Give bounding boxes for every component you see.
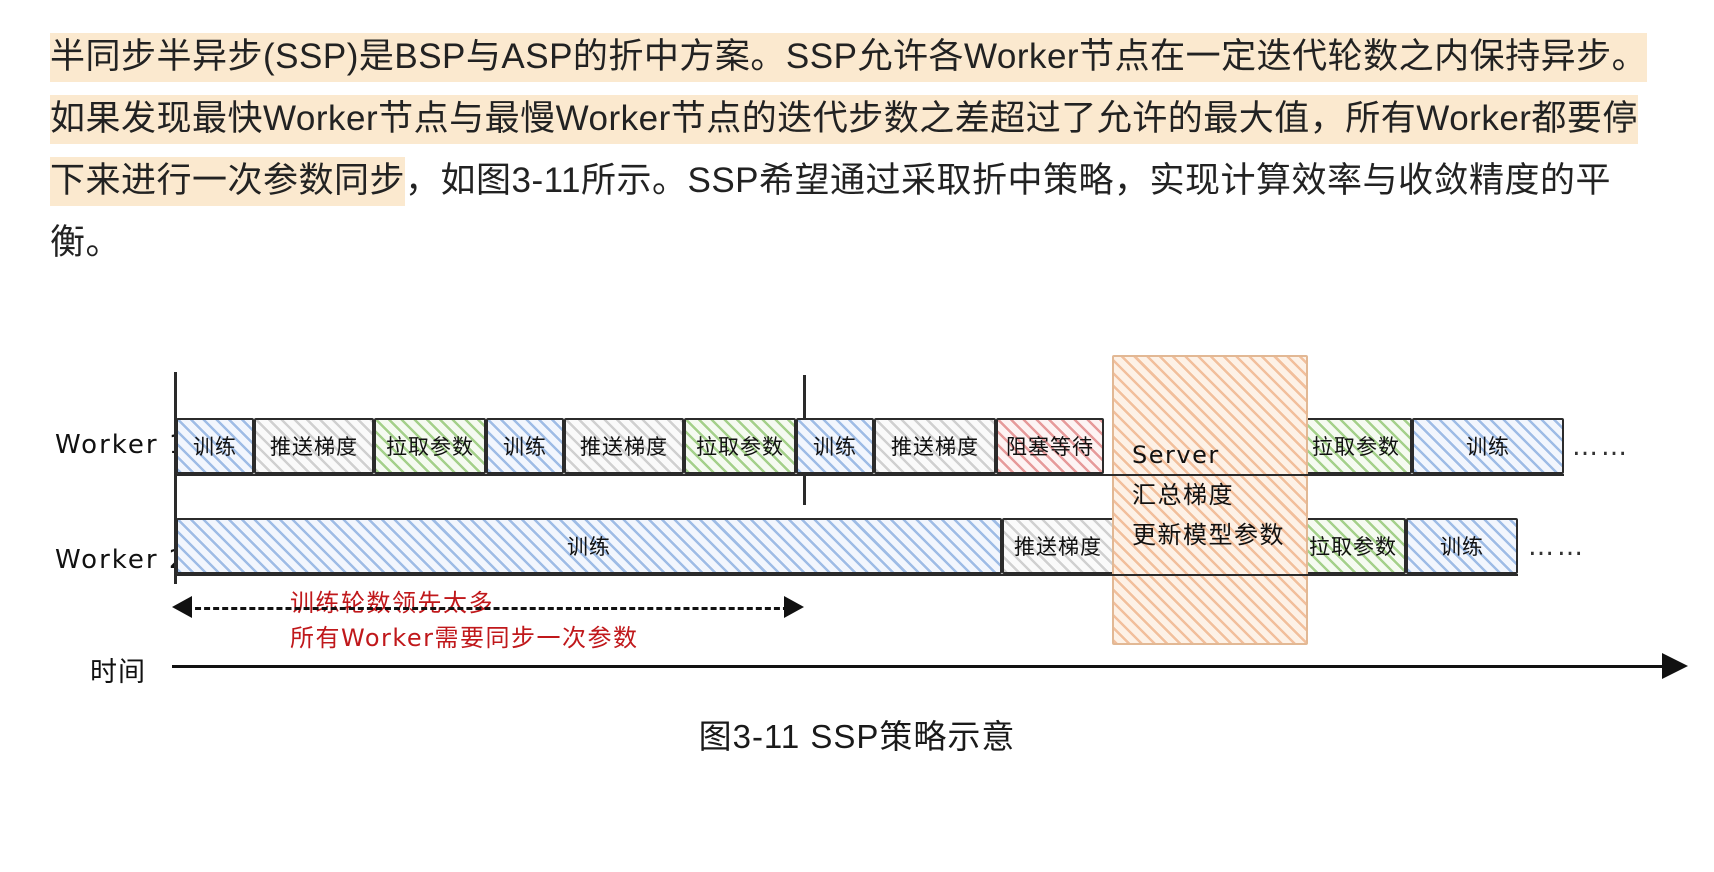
worker2-block-label-3: 训练 [1440, 531, 1484, 561]
server-line-0: Server [1132, 435, 1220, 475]
worker1-continuation-ellipsis: …… [1572, 432, 1630, 462]
worker1-block-6: 训练 [796, 418, 874, 474]
worker1-block-label-7: 推送梯度 [891, 431, 979, 461]
axis-label-time: 时间 [90, 650, 146, 689]
span-arrow-left-icon [172, 596, 192, 618]
worker1-baseline [176, 474, 1564, 476]
worker1-block-5: 拉取参数 [684, 418, 796, 474]
worker2-block-label-0: 训练 [567, 531, 611, 561]
worker1-block-label-6: 训练 [813, 431, 857, 461]
worker2-block-1: 推送梯度 [1002, 518, 1114, 574]
worker1-block-2: 拉取参数 [374, 418, 486, 474]
worker1-block-label-4: 推送梯度 [580, 431, 668, 461]
worker1-block-10: 训练 [1412, 418, 1564, 474]
figure-caption: 图3-11 SSP策略示意 [0, 710, 1714, 758]
worker2-block-label-1: 推送梯度 [1014, 531, 1102, 561]
worker1-block-label-3: 训练 [503, 431, 547, 461]
worker1-block-label-8: 阻塞等待 [1006, 431, 1094, 461]
worker2-baseline [176, 574, 1518, 576]
worker1-block-label-1: 推送梯度 [270, 431, 358, 461]
worker1-block-label-0: 训练 [193, 431, 237, 461]
body-paragraph: 半同步半异步(SSP)是BSP与ASP的折中方案。SSP允许各Worker节点在… [50, 26, 1670, 274]
worker2-block-3: 训练 [1406, 518, 1518, 574]
worker1-block-7: 推送梯度 [874, 418, 996, 474]
annotation-line-1: 训练轮数领先太多 [290, 583, 494, 618]
worker1-block-8: 阻塞等待 [996, 418, 1104, 474]
worker1-block-0: 训练 [176, 418, 254, 474]
row-label-worker2: Worker 2 [55, 545, 187, 575]
time-axis-line [172, 665, 1672, 668]
worker1-block-1: 推送梯度 [254, 418, 374, 474]
worker2-block-label-2: 拉取参数 [1309, 531, 1397, 561]
worker2-block-0: 训练 [176, 518, 1002, 574]
worker1-block-9: 拉取参数 [1300, 418, 1412, 474]
sync-span-dashed-line [186, 607, 798, 610]
span-arrow-right-icon [784, 596, 804, 618]
row-label-worker1: Worker 1 [55, 430, 187, 460]
worker1-block-4: 推送梯度 [564, 418, 684, 474]
worker1-block-label-2: 拉取参数 [386, 431, 474, 461]
worker2-block-2: 拉取参数 [1300, 518, 1406, 574]
server-box: Server汇总梯度更新模型参数 [1112, 355, 1308, 645]
server-line-1: 汇总梯度 [1132, 475, 1234, 515]
annotation-line-2: 所有Worker需要同步一次参数 [290, 618, 639, 653]
time-axis-arrow-icon [1662, 653, 1688, 679]
worker1-block-label-10: 训练 [1466, 431, 1510, 461]
worker1-block-3: 训练 [486, 418, 564, 474]
server-line-2: 更新模型参数 [1132, 515, 1285, 555]
worker2-continuation-ellipsis: …… [1528, 532, 1586, 562]
worker1-block-label-9: 拉取参数 [1312, 431, 1400, 461]
worker1-block-label-5: 拉取参数 [696, 431, 784, 461]
